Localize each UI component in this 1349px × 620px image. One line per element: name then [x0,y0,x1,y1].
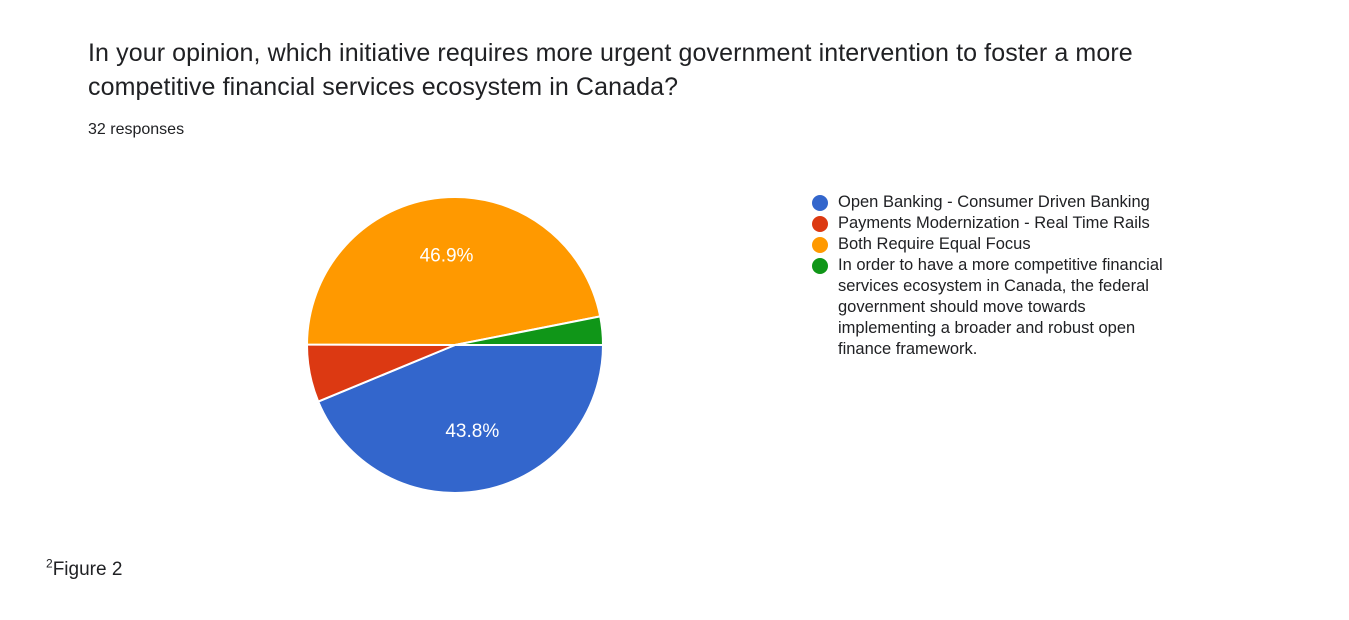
legend-swatch-green-icon [812,258,828,274]
chart-container: 43.8%46.9% Open Banking - Consumer Drive… [0,170,1349,500]
legend-item-payments-modernization[interactable]: Payments Modernization - Real Time Rails [812,213,1192,234]
footnote-marker: 2 [46,557,53,571]
pie-slice[interactable] [307,197,600,345]
legend-item-open-finance-framework[interactable]: In order to have a more competitive fina… [812,255,1192,360]
pie-data-label: 43.8% [445,421,499,442]
legend-label-both-equal-focus: Both Require Equal Focus [838,234,1031,255]
figure-caption-text: Figure 2 [53,559,123,580]
legend-swatch-orange-icon [812,237,828,253]
pie-chart: 43.8%46.9% [295,185,615,505]
legend-item-open-banking[interactable]: Open Banking - Consumer Driven Banking [812,192,1192,213]
legend-item-both-equal-focus[interactable]: Both Require Equal Focus [812,234,1192,255]
pie-slice-group [307,197,603,493]
page-title: In your opinion, which initiative requir… [88,36,1218,104]
legend-swatch-blue-icon [812,195,828,211]
legend-label-open-finance-framework: In order to have a more competitive fina… [838,255,1178,360]
legend-swatch-red-icon [812,216,828,232]
legend-label-payments-modernization: Payments Modernization - Real Time Rails [838,213,1150,234]
chart-legend: Open Banking - Consumer Driven Banking P… [812,192,1192,360]
response-count-label: 32 responses [88,120,184,140]
pie-data-label: 46.9% [420,246,474,267]
legend-label-open-banking: Open Banking - Consumer Driven Banking [838,192,1150,213]
figure-caption: 2Figure 2 [46,558,122,582]
